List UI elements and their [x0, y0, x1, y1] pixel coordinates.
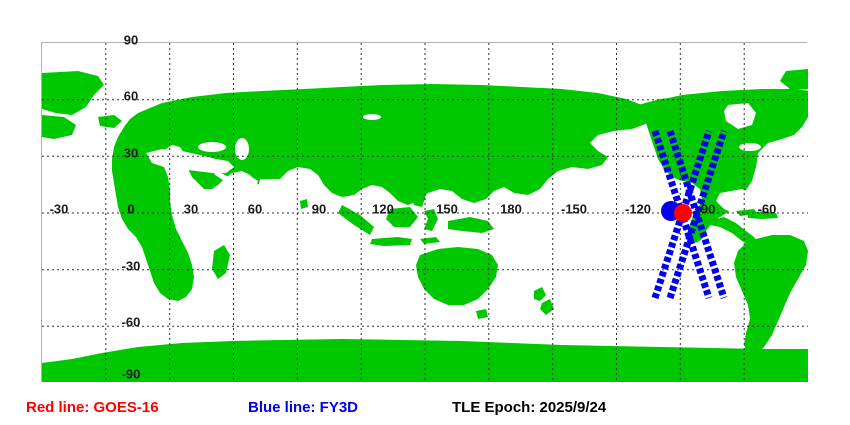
lon-tick-label-m30: -30: [50, 203, 69, 216]
lake-baikal: [363, 114, 381, 120]
lon-tick-label-180: 180: [500, 203, 522, 216]
map-plot-area: [41, 42, 807, 382]
lon-tick-label-120: 120: [372, 203, 394, 216]
great-lakes: [739, 143, 761, 151]
lon-tick-label-90: 90: [312, 203, 326, 216]
lon-tick-label-m90: -90: [697, 203, 716, 216]
lon-tick-label-m150: -150: [561, 203, 587, 216]
legend-tle-epoch: TLE Epoch: 2025/9/24: [452, 400, 606, 415]
lat-tick-label-0: 0: [127, 203, 134, 216]
world-map-svg: [42, 43, 808, 383]
lon-tick-label-m60: -60: [758, 203, 777, 216]
lat-tick-label-m90: -90: [122, 368, 141, 381]
black-sea: [198, 142, 226, 152]
goes16-satellite-marker: [674, 204, 692, 222]
lat-tick-label-90: 90: [124, 34, 138, 47]
legend-bar: Red line: GOES-16 Blue line: FY3D TLE Ep…: [0, 396, 850, 425]
lon-tick-label-150: 150: [436, 203, 458, 216]
lon-tick-label-30: 30: [184, 203, 198, 216]
legend-blue-line-fy3d: Blue line: FY3D: [248, 400, 358, 415]
satellite-ground-track-map: -30 0 30 60 90 120 150 180 -150 -120 -90…: [0, 0, 850, 425]
lon-tick-label-60: 60: [248, 203, 262, 216]
lat-tick-label-30: 30: [124, 147, 138, 160]
lat-tick-label-60: 60: [124, 90, 138, 103]
lat-tick-label-m30: -30: [122, 260, 141, 273]
lat-tick-label-m60: -60: [122, 316, 141, 329]
legend-red-line-goes16: Red line: GOES-16: [26, 400, 159, 415]
lon-tick-label-m120: -120: [625, 203, 651, 216]
